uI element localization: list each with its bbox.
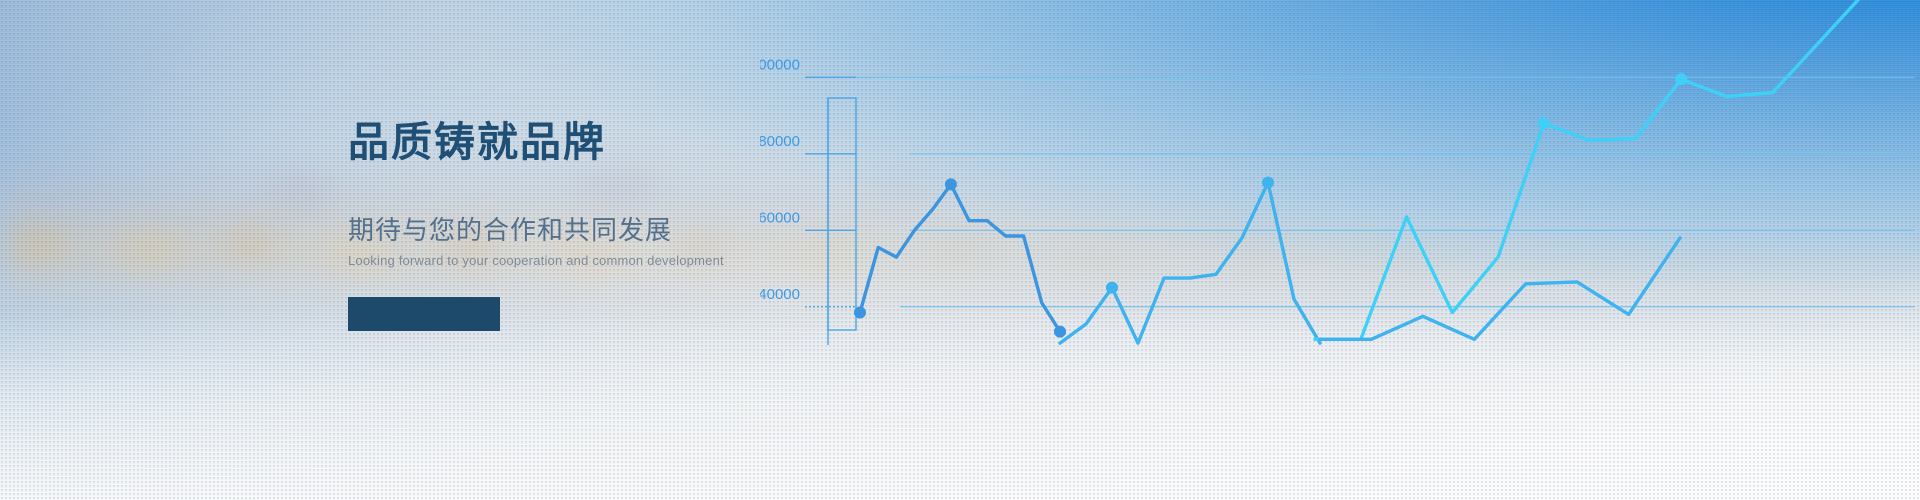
chart-line-series-2 bbox=[1060, 183, 1320, 344]
banner-subtitle-english: Looking forward to your cooperation and … bbox=[348, 253, 768, 269]
chart-data-point bbox=[945, 178, 957, 190]
y-tick-label: 60000 bbox=[760, 209, 800, 226]
chart-y-axis bbox=[828, 98, 856, 345]
y-tick-label: 80000 bbox=[760, 133, 800, 150]
chart-svg: 400006000080000100000 bbox=[760, 0, 1920, 500]
banner-cta-button[interactable] bbox=[348, 297, 500, 331]
chart-data-point bbox=[854, 307, 866, 319]
chart-line-series-3 bbox=[1315, 0, 1910, 339]
banner-subtitle-chinese: 期待与您的合作和共同发展 bbox=[348, 215, 768, 246]
chart-data-point bbox=[1675, 73, 1687, 85]
chart-data-point bbox=[1538, 117, 1550, 129]
chart-series-group bbox=[854, 0, 1916, 343]
chart-data-point bbox=[1054, 326, 1066, 338]
chart-data-point bbox=[1262, 177, 1274, 189]
y-tick-label: 100000 bbox=[760, 56, 800, 73]
hero-banner: 品质铸就品牌 期待与您的合作和共同发展 Looking forward to y… bbox=[0, 0, 1920, 500]
y-tick-label: 40000 bbox=[760, 286, 800, 303]
chart-y-tick-labels: 400006000080000100000 bbox=[760, 56, 856, 306]
banner-title: 品质铸就品牌 bbox=[348, 120, 768, 165]
line-chart: 400006000080000100000 bbox=[760, 0, 1920, 500]
chart-gridlines bbox=[850, 77, 1915, 306]
chart-data-point bbox=[1106, 282, 1118, 294]
banner-copy-block: 品质铸就品牌 期待与您的合作和共同发展 Looking forward to y… bbox=[348, 120, 768, 331]
chart-line-series-1 bbox=[860, 184, 1060, 331]
